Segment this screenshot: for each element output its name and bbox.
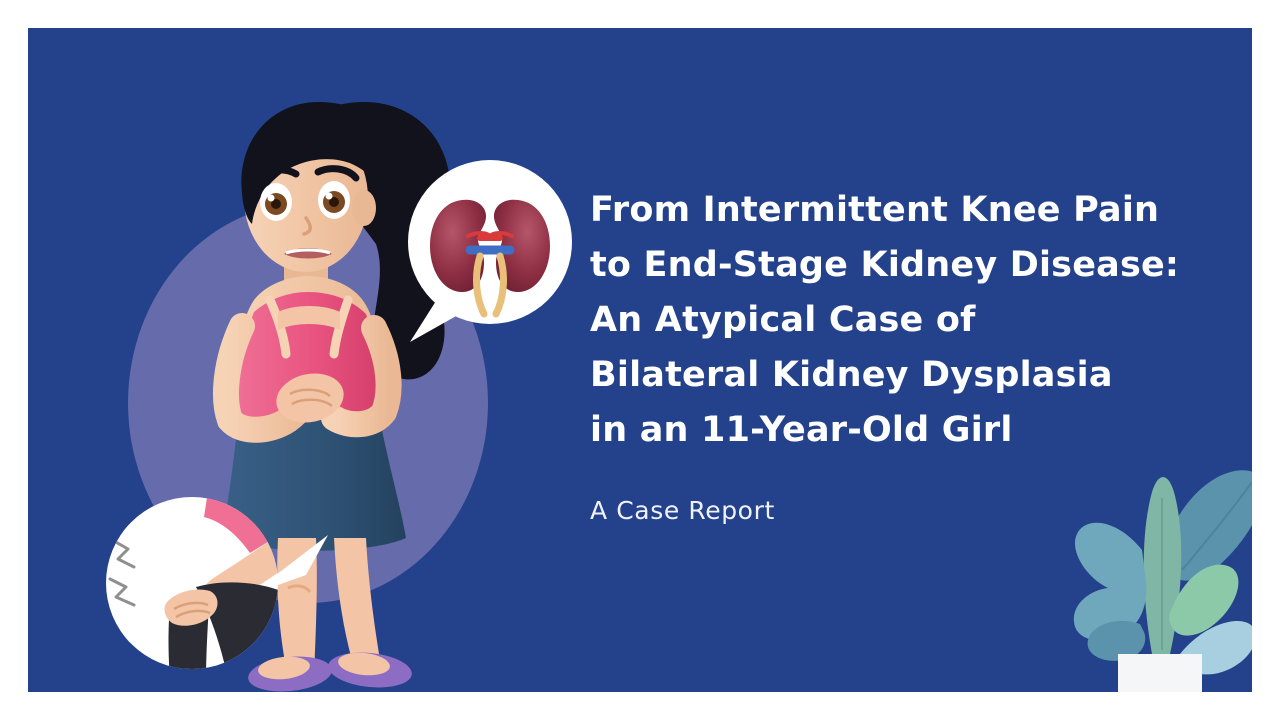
knee-pain-callout — [100, 483, 330, 683]
title-line-1: From Intermittent Knee Pain — [590, 183, 1230, 238]
kidney-callout — [400, 156, 580, 356]
ear — [352, 190, 376, 226]
title-block: From Intermittent Knee Pain to End-Stage… — [590, 183, 1230, 525]
slide-root: From Intermittent Knee Pain to End-Stage… — [0, 0, 1280, 720]
title-line-4: Bilateral Kidney Dysplasia — [590, 348, 1230, 403]
title-line-3: An Atypical Case of — [590, 293, 1230, 348]
eye-highlight-right — [326, 193, 333, 200]
title-line-2: to End-Stage Kidney Disease: — [590, 238, 1230, 293]
slide-panel: From Intermittent Knee Pain to End-Stage… — [28, 28, 1252, 692]
eye-highlight-left — [268, 195, 275, 202]
page-title: From Intermittent Knee Pain to End-Stage… — [590, 183, 1230, 458]
plant-pot — [1118, 654, 1202, 692]
subtitle: A Case Report — [590, 496, 1230, 525]
title-line-5: in an 11-Year-Old Girl — [590, 403, 1230, 458]
